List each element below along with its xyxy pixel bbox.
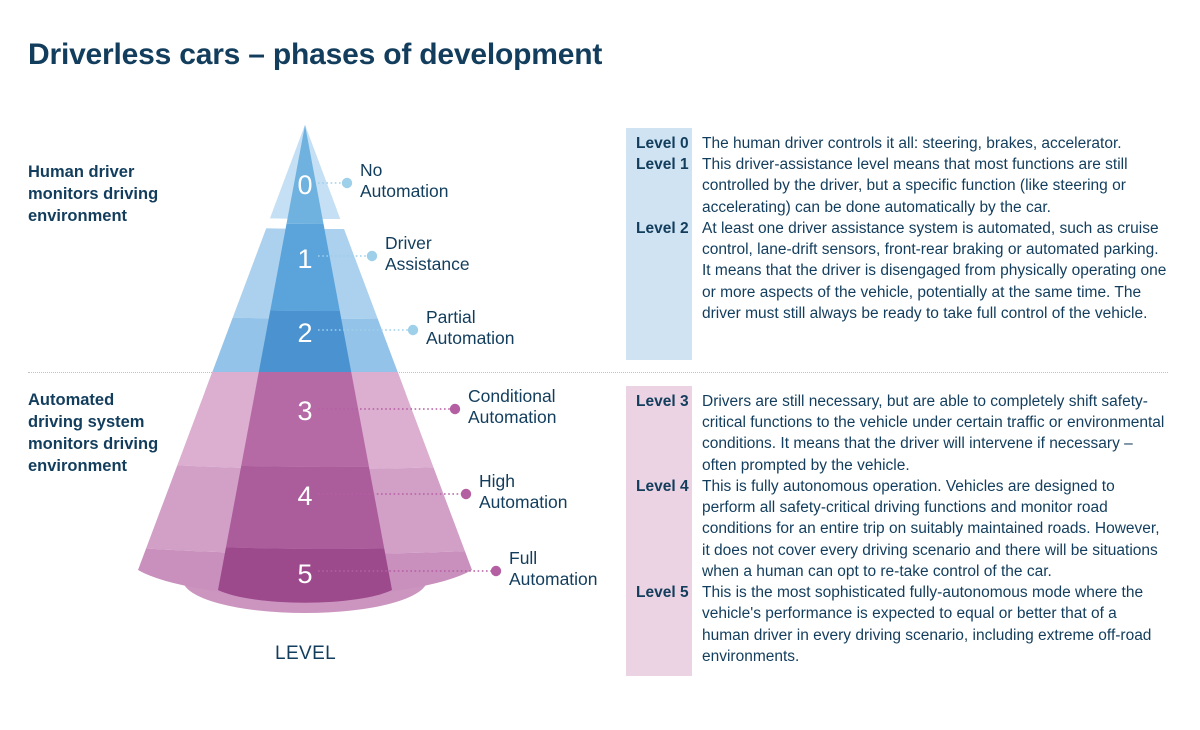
infographic-canvas: Driverless cars – phases of development … xyxy=(0,0,1200,730)
callout-label-5: FullAutomation xyxy=(509,548,598,591)
level-cone-diagram: 0 1 2 3 4 5 xyxy=(0,0,700,730)
cone-number-2: 2 xyxy=(297,318,312,348)
level-row-description: This is the most sophisticated fully-aut… xyxy=(692,582,1168,667)
level-row-description: The human driver controls it all: steeri… xyxy=(692,133,1168,154)
level-row-key: Level 5 xyxy=(626,582,692,603)
cone-number-1: 1 xyxy=(297,244,312,274)
level-row: Level 1This driver-assistance level mean… xyxy=(626,154,1168,218)
level-row-description: Drivers are still necessary, but are abl… xyxy=(692,391,1168,476)
level-row-key: Level 0 xyxy=(626,133,692,154)
callout-label-4: HighAutomation xyxy=(479,471,568,514)
callout-label-3: ConditionalAutomation xyxy=(468,386,557,429)
level-row: Level 5This is the most sophisticated fu… xyxy=(626,582,1168,667)
cone-number-0: 0 xyxy=(297,170,312,200)
callout-label-1: DriverAssistance xyxy=(385,233,470,276)
level-axis-caption: LEVEL xyxy=(275,643,336,665)
panel-row-list-blue: Level 0The human driver controls it all:… xyxy=(626,128,1168,324)
level-row: Level 4This is fully autonomous operatio… xyxy=(626,476,1168,582)
level-row-key: Level 2 xyxy=(626,218,692,239)
level-row: Level 2At least one driver assistance sy… xyxy=(626,218,1168,324)
level-row-key: Level 3 xyxy=(626,391,692,412)
cone-number-4: 4 xyxy=(297,481,312,511)
level-row: Level 0The human driver controls it all:… xyxy=(626,133,1168,154)
level-row-key: Level 1 xyxy=(626,154,692,175)
level-row-description: This is fully autonomous operation. Vehi… xyxy=(692,476,1168,582)
level-row-description: At least one driver assistance system is… xyxy=(692,218,1168,324)
panel-row-list-pink: Level 3Drivers are still necessary, but … xyxy=(626,386,1168,667)
callout-label-0: NoAutomation xyxy=(360,160,449,203)
cone-number-5: 5 xyxy=(297,559,312,589)
level-row-key: Level 4 xyxy=(626,476,692,497)
level-row-description: This driver-assistance level means that … xyxy=(692,154,1168,218)
cone-number-3: 3 xyxy=(297,396,312,426)
callout-label-2: PartialAutomation xyxy=(426,307,515,350)
level-row: Level 3Drivers are still necessary, but … xyxy=(626,391,1168,476)
